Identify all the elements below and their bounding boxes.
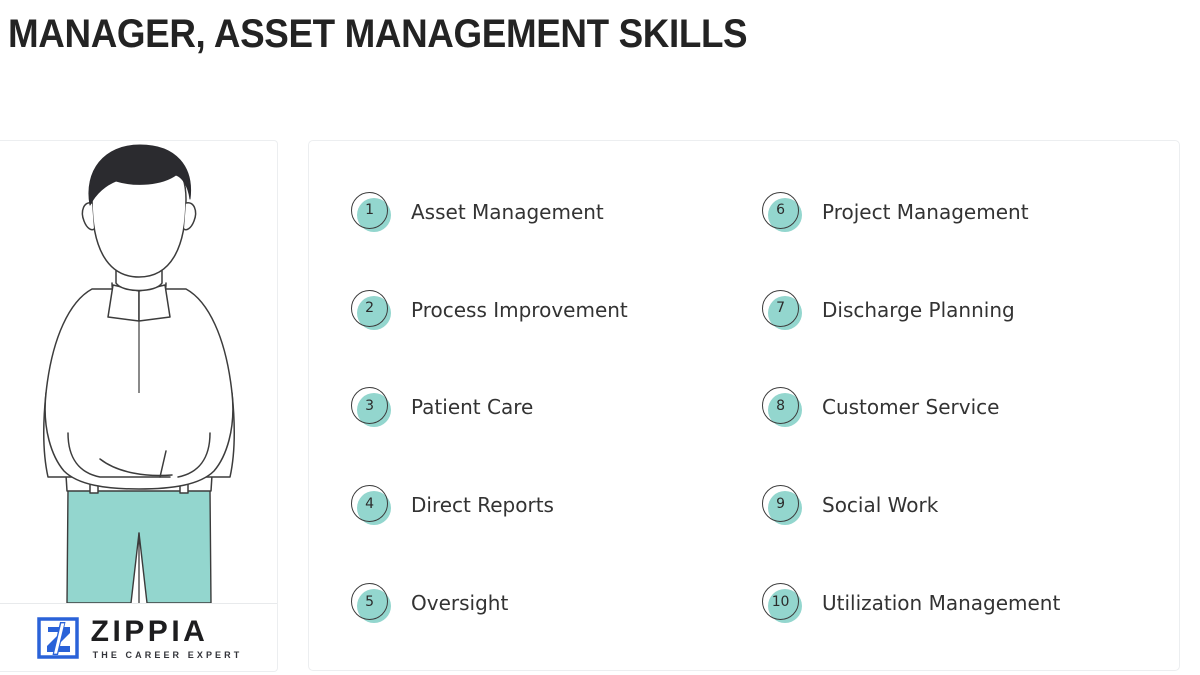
badge-outline-circle: 5 [351, 583, 388, 620]
skill-item-9[interactable]: 9 Social Work [744, 456, 1155, 554]
illustration-panel: ZIPPIA THE CAREER EXPERT [0, 140, 278, 672]
skill-number: 10 [772, 595, 789, 609]
skill-number: 3 [365, 399, 374, 413]
skill-item-2[interactable]: 2 Process Improvement [333, 261, 744, 359]
skill-number-badge: 10 [762, 583, 802, 623]
skill-label: Customer Service [822, 395, 999, 419]
skill-number-badge: 2 [351, 290, 391, 330]
skill-item-8[interactable]: 8 Customer Service [744, 359, 1155, 457]
zippia-logo-text: ZIPPIA THE CAREER EXPERT [91, 616, 243, 660]
skill-label: Direct Reports [411, 493, 554, 517]
badge-outline-circle: 6 [762, 192, 799, 229]
zippia-tagline: THE CAREER EXPERT [93, 650, 243, 660]
skill-number: 1 [365, 203, 374, 217]
skill-label: Social Work [822, 493, 938, 517]
skill-label: Process Improvement [411, 298, 628, 322]
badge-outline-circle: 4 [351, 485, 388, 522]
skill-number-badge: 6 [762, 192, 802, 232]
skill-item-7[interactable]: 7 Discharge Planning [744, 261, 1155, 359]
skill-number-badge: 1 [351, 192, 391, 232]
skill-number: 6 [776, 203, 785, 217]
skill-number: 7 [776, 301, 785, 315]
skill-item-5[interactable]: 5 Oversight [333, 554, 744, 652]
skill-item-1[interactable]: 1 Asset Management [333, 163, 744, 261]
skill-number: 4 [365, 497, 374, 511]
skill-label: Utilization Management [822, 591, 1060, 615]
skill-number-badge: 9 [762, 485, 802, 525]
person-illustration [0, 141, 278, 603]
skills-card: 1 Asset Management 2 Process Improvement… [308, 140, 1180, 671]
skill-number: 9 [776, 497, 785, 511]
skill-item-10[interactable]: 10 Utilization Management [744, 554, 1155, 652]
skill-number-badge: 4 [351, 485, 391, 525]
skill-label: Patient Care [411, 395, 533, 419]
badge-outline-circle: 1 [351, 192, 388, 229]
zippia-logo[interactable]: ZIPPIA THE CAREER EXPERT [0, 604, 278, 672]
zippia-wordmark: ZIPPIA [91, 616, 243, 648]
zippia-z-logo-icon [36, 616, 80, 660]
skill-number-badge: 3 [351, 387, 391, 427]
badge-outline-circle: 10 [762, 583, 799, 620]
page-title: MANAGER, ASSET MANAGEMENT SKILLS [8, 12, 747, 57]
badge-outline-circle: 9 [762, 485, 799, 522]
skill-label: Project Management [822, 200, 1029, 224]
skill-label: Oversight [411, 591, 508, 615]
skill-label: Discharge Planning [822, 298, 1015, 322]
skill-label: Asset Management [411, 200, 604, 224]
skill-item-6[interactable]: 6 Project Management [744, 163, 1155, 261]
skill-number: 8 [776, 399, 785, 413]
skill-number: 5 [365, 595, 374, 609]
skill-number-badge: 5 [351, 583, 391, 623]
badge-outline-circle: 2 [351, 290, 388, 327]
skill-number: 2 [365, 301, 374, 315]
skill-number-badge: 7 [762, 290, 802, 330]
skills-list: 1 Asset Management 2 Process Improvement… [309, 141, 1179, 670]
skill-number-badge: 8 [762, 387, 802, 427]
badge-outline-circle: 7 [762, 290, 799, 327]
skill-item-3[interactable]: 3 Patient Care [333, 359, 744, 457]
skill-item-4[interactable]: 4 Direct Reports [333, 456, 744, 554]
